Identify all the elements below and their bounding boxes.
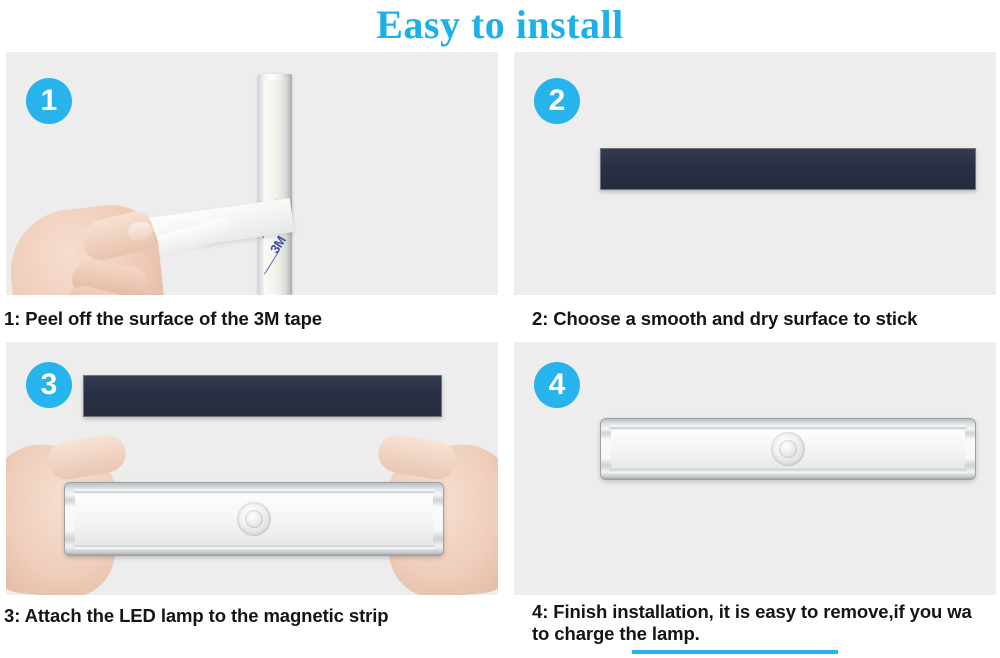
- step-badge-2: 2: [534, 78, 580, 124]
- led-lamp: [64, 482, 444, 556]
- lamp-groove-bottom: [73, 545, 435, 549]
- step-caption-2: 2: Choose a smooth and dry surface to st…: [532, 308, 917, 330]
- step-caption-4: 4: Finish installation, it is easy to re…: [532, 601, 1000, 645]
- lamp-groove-bottom: [609, 469, 967, 473]
- magnetic-strip: [600, 148, 976, 190]
- led-bar-edge: [285, 76, 292, 295]
- step-panel-2: 2: [514, 52, 996, 295]
- step-badge-1: 1: [26, 78, 72, 124]
- step-panel-1: 3M 3M 1: [6, 52, 498, 295]
- pir-sensor-icon: [237, 502, 271, 536]
- pir-sensor-icon: [771, 432, 805, 466]
- adhesive-tape-backing: [264, 80, 284, 294]
- step-caption-4-line2: to charge the lamp.: [532, 623, 1000, 645]
- step-badge-4: 4: [534, 362, 580, 408]
- lamp-groove-top: [73, 489, 435, 493]
- lamp-groove-top: [609, 425, 967, 429]
- step-caption-3: 3: Attach the LED lamp to the magnetic s…: [4, 605, 389, 627]
- magnetic-strip: [83, 375, 442, 417]
- led-lamp-installed: [600, 418, 976, 480]
- product-instruction-page: Easy to install 3M 3M 1 2: [0, 0, 1000, 658]
- step-panel-3: S N 3: [6, 342, 498, 595]
- step-panel-4: 4: [514, 342, 996, 595]
- page-title: Easy to install: [0, 2, 1000, 48]
- step-caption-4-line1: 4: Finish installation, it is easy to re…: [532, 601, 1000, 623]
- left-hand-thumb: [45, 432, 128, 483]
- step-badge-3: 3: [26, 362, 72, 408]
- step-caption-1: 1: Peel off the surface of the 3M tape: [4, 308, 322, 330]
- right-hand-thumb: [375, 432, 458, 483]
- bottom-accent-bar: [632, 650, 838, 654]
